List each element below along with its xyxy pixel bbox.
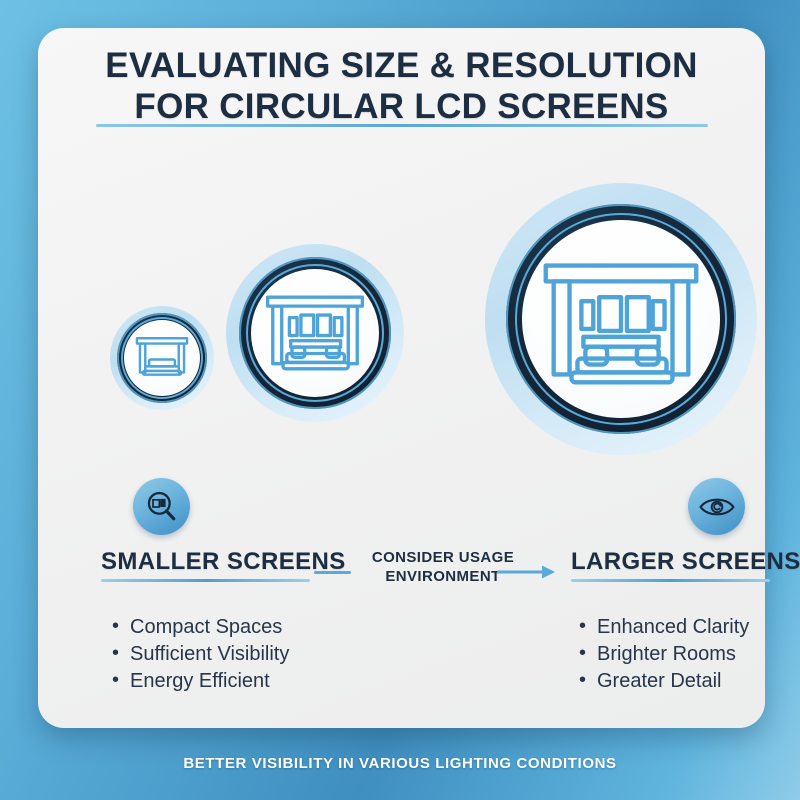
larger-screens-heading: LARGER SCREENS <box>571 548 800 576</box>
larger-screens-bullets: Enhanced Clarity Brighter Rooms Greater … <box>579 614 749 696</box>
mid-label-line-2: ENVIRONMENT <box>385 568 500 585</box>
living-room-icon <box>251 269 379 397</box>
title-divider <box>96 124 708 127</box>
medium-circular-screen[interactable] <box>226 244 404 422</box>
title-line-1: EVALUATING SIZE & RESOLUTION <box>105 46 697 85</box>
eye-icon <box>699 492 735 522</box>
list-item: Brighter Rooms <box>579 641 749 668</box>
smaller-screens-bullets: Compact Spaces Sufficient Visibility Ene… <box>112 614 289 696</box>
list-item: Sufficient Visibility <box>112 641 289 668</box>
list-item: Energy Efficient <box>112 668 289 695</box>
magnifier-screens-icon <box>144 489 180 525</box>
mid-label-line-1: CONSIDER USAGE <box>372 549 514 566</box>
list-item: Compact Spaces <box>112 614 289 641</box>
arrow-right-icon <box>497 562 555 582</box>
small-circular-screen[interactable] <box>110 306 214 410</box>
living-room-icon <box>522 220 720 418</box>
title-line-2: FOR CIRCULAR LCD SCREENS <box>38 87 765 128</box>
magnifier-screens-badge[interactable] <box>133 478 190 535</box>
infographic-card: EVALUATING SIZE & RESOLUTION FOR CIRCULA… <box>38 28 765 728</box>
connector-dash-left <box>314 571 351 574</box>
eye-badge[interactable] <box>688 478 745 535</box>
living-room-icon <box>124 320 200 396</box>
page-title: EVALUATING SIZE & RESOLUTION FOR CIRCULA… <box>38 46 765 127</box>
smaller-screens-heading: SMALLER SCREENS <box>101 548 346 576</box>
list-item: Greater Detail <box>579 668 749 695</box>
larger-screens-divider <box>571 579 770 582</box>
large-circular-screen[interactable] <box>485 183 757 455</box>
list-item: Enhanced Clarity <box>579 614 749 641</box>
smaller-screens-divider <box>101 579 310 582</box>
footer-caption: BETTER VISIBILITY IN VARIOUS LIGHTING CO… <box>0 755 800 772</box>
